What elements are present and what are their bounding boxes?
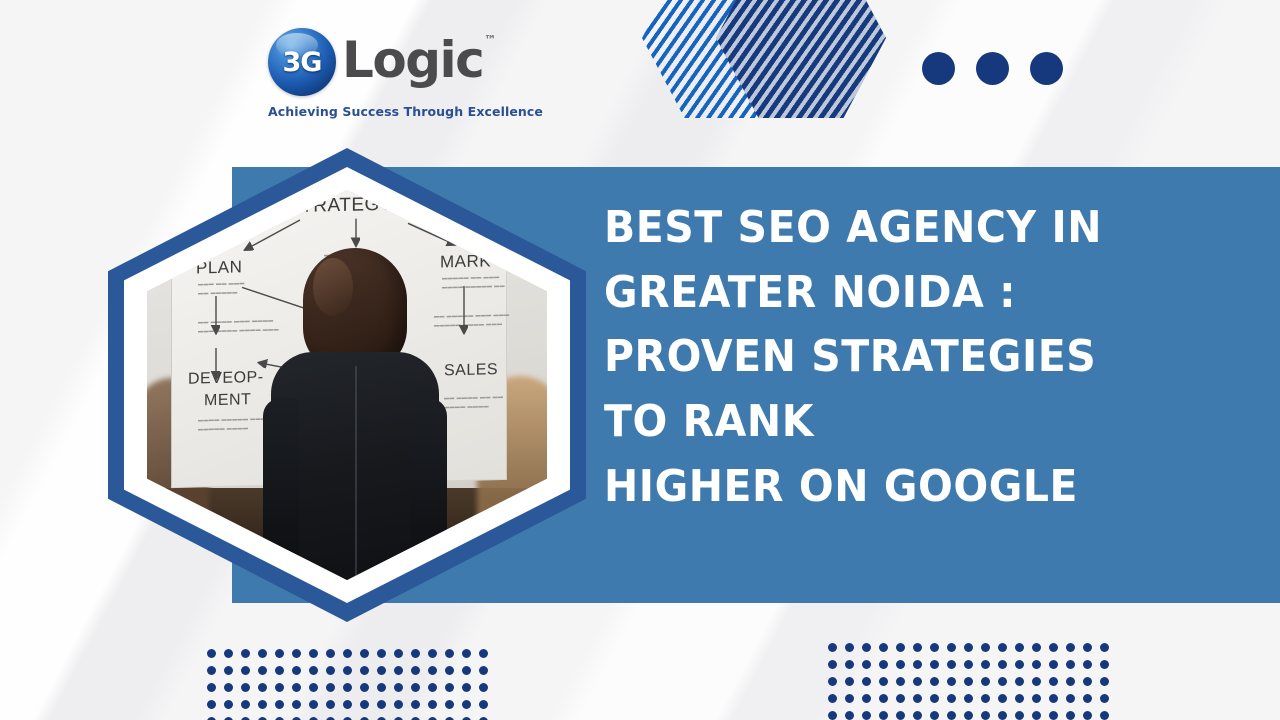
grid-dot-icon xyxy=(224,649,233,658)
grid-dot-icon xyxy=(913,660,922,669)
grid-dot-icon xyxy=(445,683,454,692)
grid-dot-icon xyxy=(292,683,301,692)
grid-dot-icon xyxy=(896,660,905,669)
grid-dot-icon xyxy=(1100,660,1109,669)
grid-dot-icon xyxy=(828,660,837,669)
grid-dot-icon xyxy=(258,683,267,692)
logo-orb-text: 3G xyxy=(268,28,336,96)
grid-dot-icon xyxy=(479,683,488,692)
dot-grid-row xyxy=(828,694,1117,711)
grid-dot-icon xyxy=(309,649,318,658)
grid-dot-icon xyxy=(394,683,403,692)
grid-dot-icon xyxy=(343,666,352,675)
dot-grid-row xyxy=(207,683,496,700)
grid-dot-icon xyxy=(947,694,956,703)
grid-dot-icon xyxy=(360,683,369,692)
grid-dot-icon xyxy=(964,677,973,686)
grid-dot-icon xyxy=(1066,694,1075,703)
grid-dot-icon xyxy=(207,649,216,658)
headline-line-4: TO RANK xyxy=(604,390,1199,455)
dot-icon xyxy=(1030,52,1063,85)
grid-dot-icon xyxy=(292,649,301,658)
grid-dot-icon xyxy=(1066,677,1075,686)
grid-dot-icon xyxy=(292,700,301,709)
grid-dot-icon xyxy=(998,711,1007,720)
grid-dot-icon xyxy=(896,643,905,652)
grid-dot-icon xyxy=(964,660,973,669)
grid-dot-icon xyxy=(1100,711,1109,720)
grid-dot-icon xyxy=(998,694,1007,703)
grid-dot-icon xyxy=(1066,643,1075,652)
grid-dot-icon xyxy=(428,683,437,692)
grid-dot-icon xyxy=(879,711,888,720)
grid-dot-icon xyxy=(828,677,837,686)
dot-grid-row xyxy=(207,649,496,666)
logo-row: 3G Logic ™ xyxy=(268,26,530,98)
grid-dot-icon xyxy=(1032,677,1041,686)
grid-dot-icon xyxy=(879,643,888,652)
grid-dot-icon xyxy=(428,649,437,658)
grid-dot-icon xyxy=(1032,660,1041,669)
headline-line-1: BEST SEO AGENCY IN xyxy=(604,196,1199,261)
grid-dot-icon xyxy=(275,683,284,692)
grid-dot-icon xyxy=(862,677,871,686)
grid-dot-icon xyxy=(326,683,335,692)
grid-dot-icon xyxy=(275,649,284,658)
grid-dot-icon xyxy=(1100,677,1109,686)
grid-dot-icon xyxy=(913,677,922,686)
grid-dot-icon xyxy=(411,700,420,709)
brand-logo[interactable]: 3G Logic ™ Achieving Success Through Exc… xyxy=(268,26,530,136)
grid-dot-icon xyxy=(428,666,437,675)
grid-dot-icon xyxy=(1100,694,1109,703)
grid-dot-icon xyxy=(998,660,1007,669)
grid-dot-icon xyxy=(1015,694,1024,703)
grid-dot-icon xyxy=(964,643,973,652)
grid-dot-icon xyxy=(828,643,837,652)
grid-dot-icon xyxy=(981,677,990,686)
grid-dot-icon xyxy=(462,649,471,658)
grid-dot-icon xyxy=(896,677,905,686)
grid-dot-icon xyxy=(479,649,488,658)
dot-grid-right xyxy=(828,643,1117,720)
grid-dot-icon xyxy=(326,666,335,675)
grid-dot-icon xyxy=(1015,643,1024,652)
grid-dot-icon xyxy=(1049,643,1058,652)
grid-dot-icon xyxy=(377,700,386,709)
grid-dot-icon xyxy=(241,700,250,709)
dot-grid-row xyxy=(828,677,1117,694)
grid-dot-icon xyxy=(1100,643,1109,652)
grid-dot-icon xyxy=(241,683,250,692)
grid-dot-icon xyxy=(981,660,990,669)
grid-dot-icon xyxy=(360,700,369,709)
grid-dot-icon xyxy=(411,683,420,692)
grid-dot-icon xyxy=(343,683,352,692)
grid-dot-icon xyxy=(224,666,233,675)
grid-dot-icon xyxy=(224,683,233,692)
page-title: BEST SEO AGENCY IN GREATER NOIDA : PROVE… xyxy=(604,196,1199,519)
grid-dot-icon xyxy=(913,643,922,652)
grid-dot-icon xyxy=(394,649,403,658)
grid-dot-icon xyxy=(241,649,250,658)
grid-dot-icon xyxy=(1032,643,1041,652)
grid-dot-icon xyxy=(930,711,939,720)
grid-dot-icon xyxy=(207,700,216,709)
grid-dot-icon xyxy=(1083,660,1092,669)
grid-dot-icon xyxy=(845,660,854,669)
headline-line-5: HIGHER ON GOOGLE xyxy=(604,455,1199,520)
grid-dot-icon xyxy=(445,666,454,675)
grid-dot-icon xyxy=(258,666,267,675)
logo-orb-icon: 3G xyxy=(268,28,336,96)
headline-line-3: PROVEN STRATEGIES xyxy=(604,325,1199,390)
grid-dot-icon xyxy=(377,666,386,675)
grid-dot-icon xyxy=(930,643,939,652)
grid-dot-icon xyxy=(862,711,871,720)
grid-dot-icon xyxy=(360,649,369,658)
grid-dot-icon xyxy=(360,666,369,675)
logo-tagline: Achieving Success Through Excellence xyxy=(268,104,530,119)
grid-dot-icon xyxy=(275,666,284,675)
grid-dot-icon xyxy=(947,660,956,669)
grid-dot-icon xyxy=(862,643,871,652)
grid-dot-icon xyxy=(1015,677,1024,686)
grid-dot-icon xyxy=(241,666,250,675)
grid-dot-icon xyxy=(479,700,488,709)
grid-dot-icon xyxy=(930,677,939,686)
grid-dot-icon xyxy=(845,643,854,652)
grid-dot-icon xyxy=(462,683,471,692)
grid-dot-icon xyxy=(1049,694,1058,703)
grid-dot-icon xyxy=(930,660,939,669)
headline-line-2: GREATER NOIDA : xyxy=(604,261,1199,326)
grid-dot-icon xyxy=(879,660,888,669)
dot-icon xyxy=(976,52,1009,85)
grid-dot-icon xyxy=(1049,660,1058,669)
grid-dot-icon xyxy=(896,711,905,720)
grid-dot-icon xyxy=(1083,694,1092,703)
grid-dot-icon xyxy=(411,666,420,675)
grid-dot-icon xyxy=(998,643,1007,652)
grid-dot-icon xyxy=(862,694,871,703)
grid-dot-icon xyxy=(309,666,318,675)
grid-dot-icon xyxy=(1083,643,1092,652)
grid-dot-icon xyxy=(224,700,233,709)
grid-dot-icon xyxy=(1049,677,1058,686)
grid-dot-icon xyxy=(845,677,854,686)
dot-grid-row xyxy=(207,700,496,717)
grid-dot-icon xyxy=(964,711,973,720)
grid-dot-icon xyxy=(845,694,854,703)
grid-dot-icon xyxy=(428,700,437,709)
grid-dot-icon xyxy=(930,694,939,703)
grid-dot-icon xyxy=(913,711,922,720)
grid-dot-icon xyxy=(981,694,990,703)
grid-dot-icon xyxy=(343,700,352,709)
grid-dot-icon xyxy=(462,700,471,709)
grid-dot-icon xyxy=(981,711,990,720)
dot-grid-row xyxy=(828,660,1117,677)
grid-dot-icon xyxy=(343,649,352,658)
grid-dot-icon xyxy=(394,666,403,675)
grid-dot-icon xyxy=(964,694,973,703)
grid-dot-icon xyxy=(258,700,267,709)
grid-dot-icon xyxy=(1049,711,1058,720)
grid-dot-icon xyxy=(845,711,854,720)
grid-dot-icon xyxy=(326,700,335,709)
grid-dot-icon xyxy=(207,683,216,692)
dot-grid-row xyxy=(207,666,496,683)
grid-dot-icon xyxy=(207,666,216,675)
grid-dot-icon xyxy=(981,643,990,652)
grid-dot-icon xyxy=(879,677,888,686)
grid-dot-icon xyxy=(309,700,318,709)
grid-dot-icon xyxy=(1066,711,1075,720)
grid-dot-icon xyxy=(947,677,956,686)
grid-dot-icon xyxy=(309,683,318,692)
grid-dot-icon xyxy=(462,666,471,675)
photo-person xyxy=(265,248,445,580)
grid-dot-icon xyxy=(445,700,454,709)
banner-canvas: 3G Logic ™ Achieving Success Through Exc… xyxy=(0,0,1280,720)
logo-wordmark: Logic xyxy=(342,35,483,85)
trademark-icon: ™ xyxy=(484,33,496,47)
grid-dot-icon xyxy=(275,700,284,709)
grid-dot-icon xyxy=(879,694,888,703)
dot-grid-row xyxy=(828,711,1117,720)
grid-dot-icon xyxy=(913,694,922,703)
grid-dot-icon xyxy=(1083,677,1092,686)
grid-dot-icon xyxy=(479,666,488,675)
dot-grid-left xyxy=(207,649,496,720)
grid-dot-icon xyxy=(292,666,301,675)
grid-dot-icon xyxy=(947,643,956,652)
grid-dot-icon xyxy=(862,660,871,669)
grid-dot-icon xyxy=(1066,660,1075,669)
hexagon-decoration-group xyxy=(624,0,894,118)
grid-dot-icon xyxy=(1032,694,1041,703)
grid-dot-icon xyxy=(828,694,837,703)
grid-dot-icon xyxy=(1015,660,1024,669)
grid-dot-icon xyxy=(947,711,956,720)
grid-dot-icon xyxy=(377,649,386,658)
three-dots-decoration xyxy=(922,52,1063,85)
person-jacket-seam xyxy=(355,366,357,580)
grid-dot-icon xyxy=(998,677,1007,686)
grid-dot-icon xyxy=(411,649,420,658)
grid-dot-icon xyxy=(258,649,267,658)
grid-dot-icon xyxy=(1083,711,1092,720)
grid-dot-icon xyxy=(1032,711,1041,720)
grid-dot-icon xyxy=(377,683,386,692)
dot-icon xyxy=(922,52,955,85)
grid-dot-icon xyxy=(1015,711,1024,720)
grid-dot-icon xyxy=(445,649,454,658)
dot-grid-row xyxy=(828,643,1117,660)
grid-dot-icon xyxy=(896,694,905,703)
grid-dot-icon xyxy=(394,700,403,709)
grid-dot-icon xyxy=(828,711,837,720)
grid-dot-icon xyxy=(326,649,335,658)
